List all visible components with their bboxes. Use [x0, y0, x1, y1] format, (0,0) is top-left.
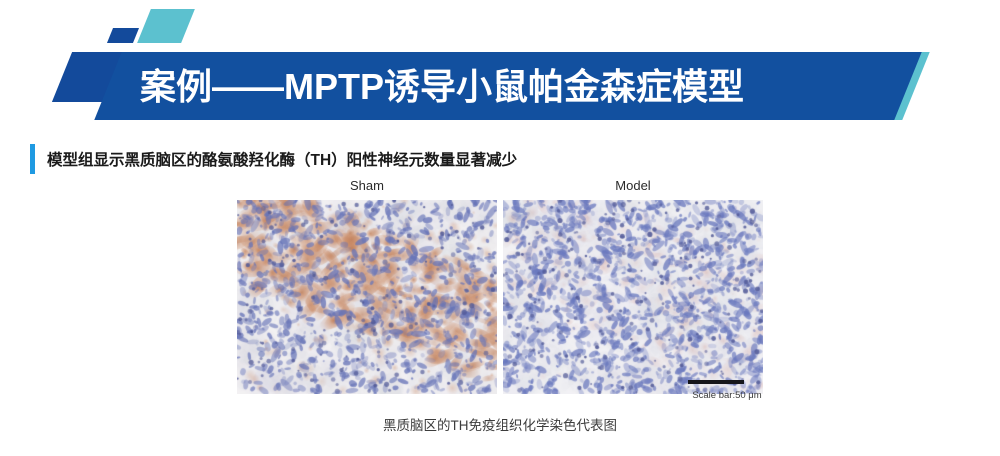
micrograph-model-canvas [503, 200, 763, 394]
panel-label-sham: Sham [237, 178, 497, 193]
subtitle-row: 模型组显示黑质脑区的酪氨酸羟化酶（TH）阳性神经元数量显著减少 [30, 142, 517, 176]
header-banner: 案例——MPTP诱导小鼠帕金森症模型 [0, 0, 1000, 130]
micrograph-panels [237, 200, 763, 394]
decorative-parallelogram-teal [137, 9, 195, 43]
figure-caption: 黑质脑区的TH免疫组织化学染色代表图 [0, 414, 1000, 434]
micrograph-sham-canvas [237, 200, 497, 394]
scale-bar-line [688, 380, 744, 384]
subtitle-accent-bar [30, 144, 35, 174]
panel-label-model: Model [503, 178, 763, 193]
page-title: 案例——MPTP诱导小鼠帕金森症模型 [140, 62, 900, 112]
micrograph-sham [237, 200, 497, 394]
decorative-parallelogram-blue [107, 28, 139, 43]
scale-bar-label: Scale bar:50 μm [672, 390, 782, 401]
subtitle-text: 模型组显示黑质脑区的酪氨酸羟化酶（TH）阳性神经元数量显著减少 [47, 148, 517, 170]
micrograph-model [503, 200, 763, 394]
figure-area: Sham Model [237, 178, 763, 394]
panel-label-row: Sham Model [237, 178, 763, 200]
